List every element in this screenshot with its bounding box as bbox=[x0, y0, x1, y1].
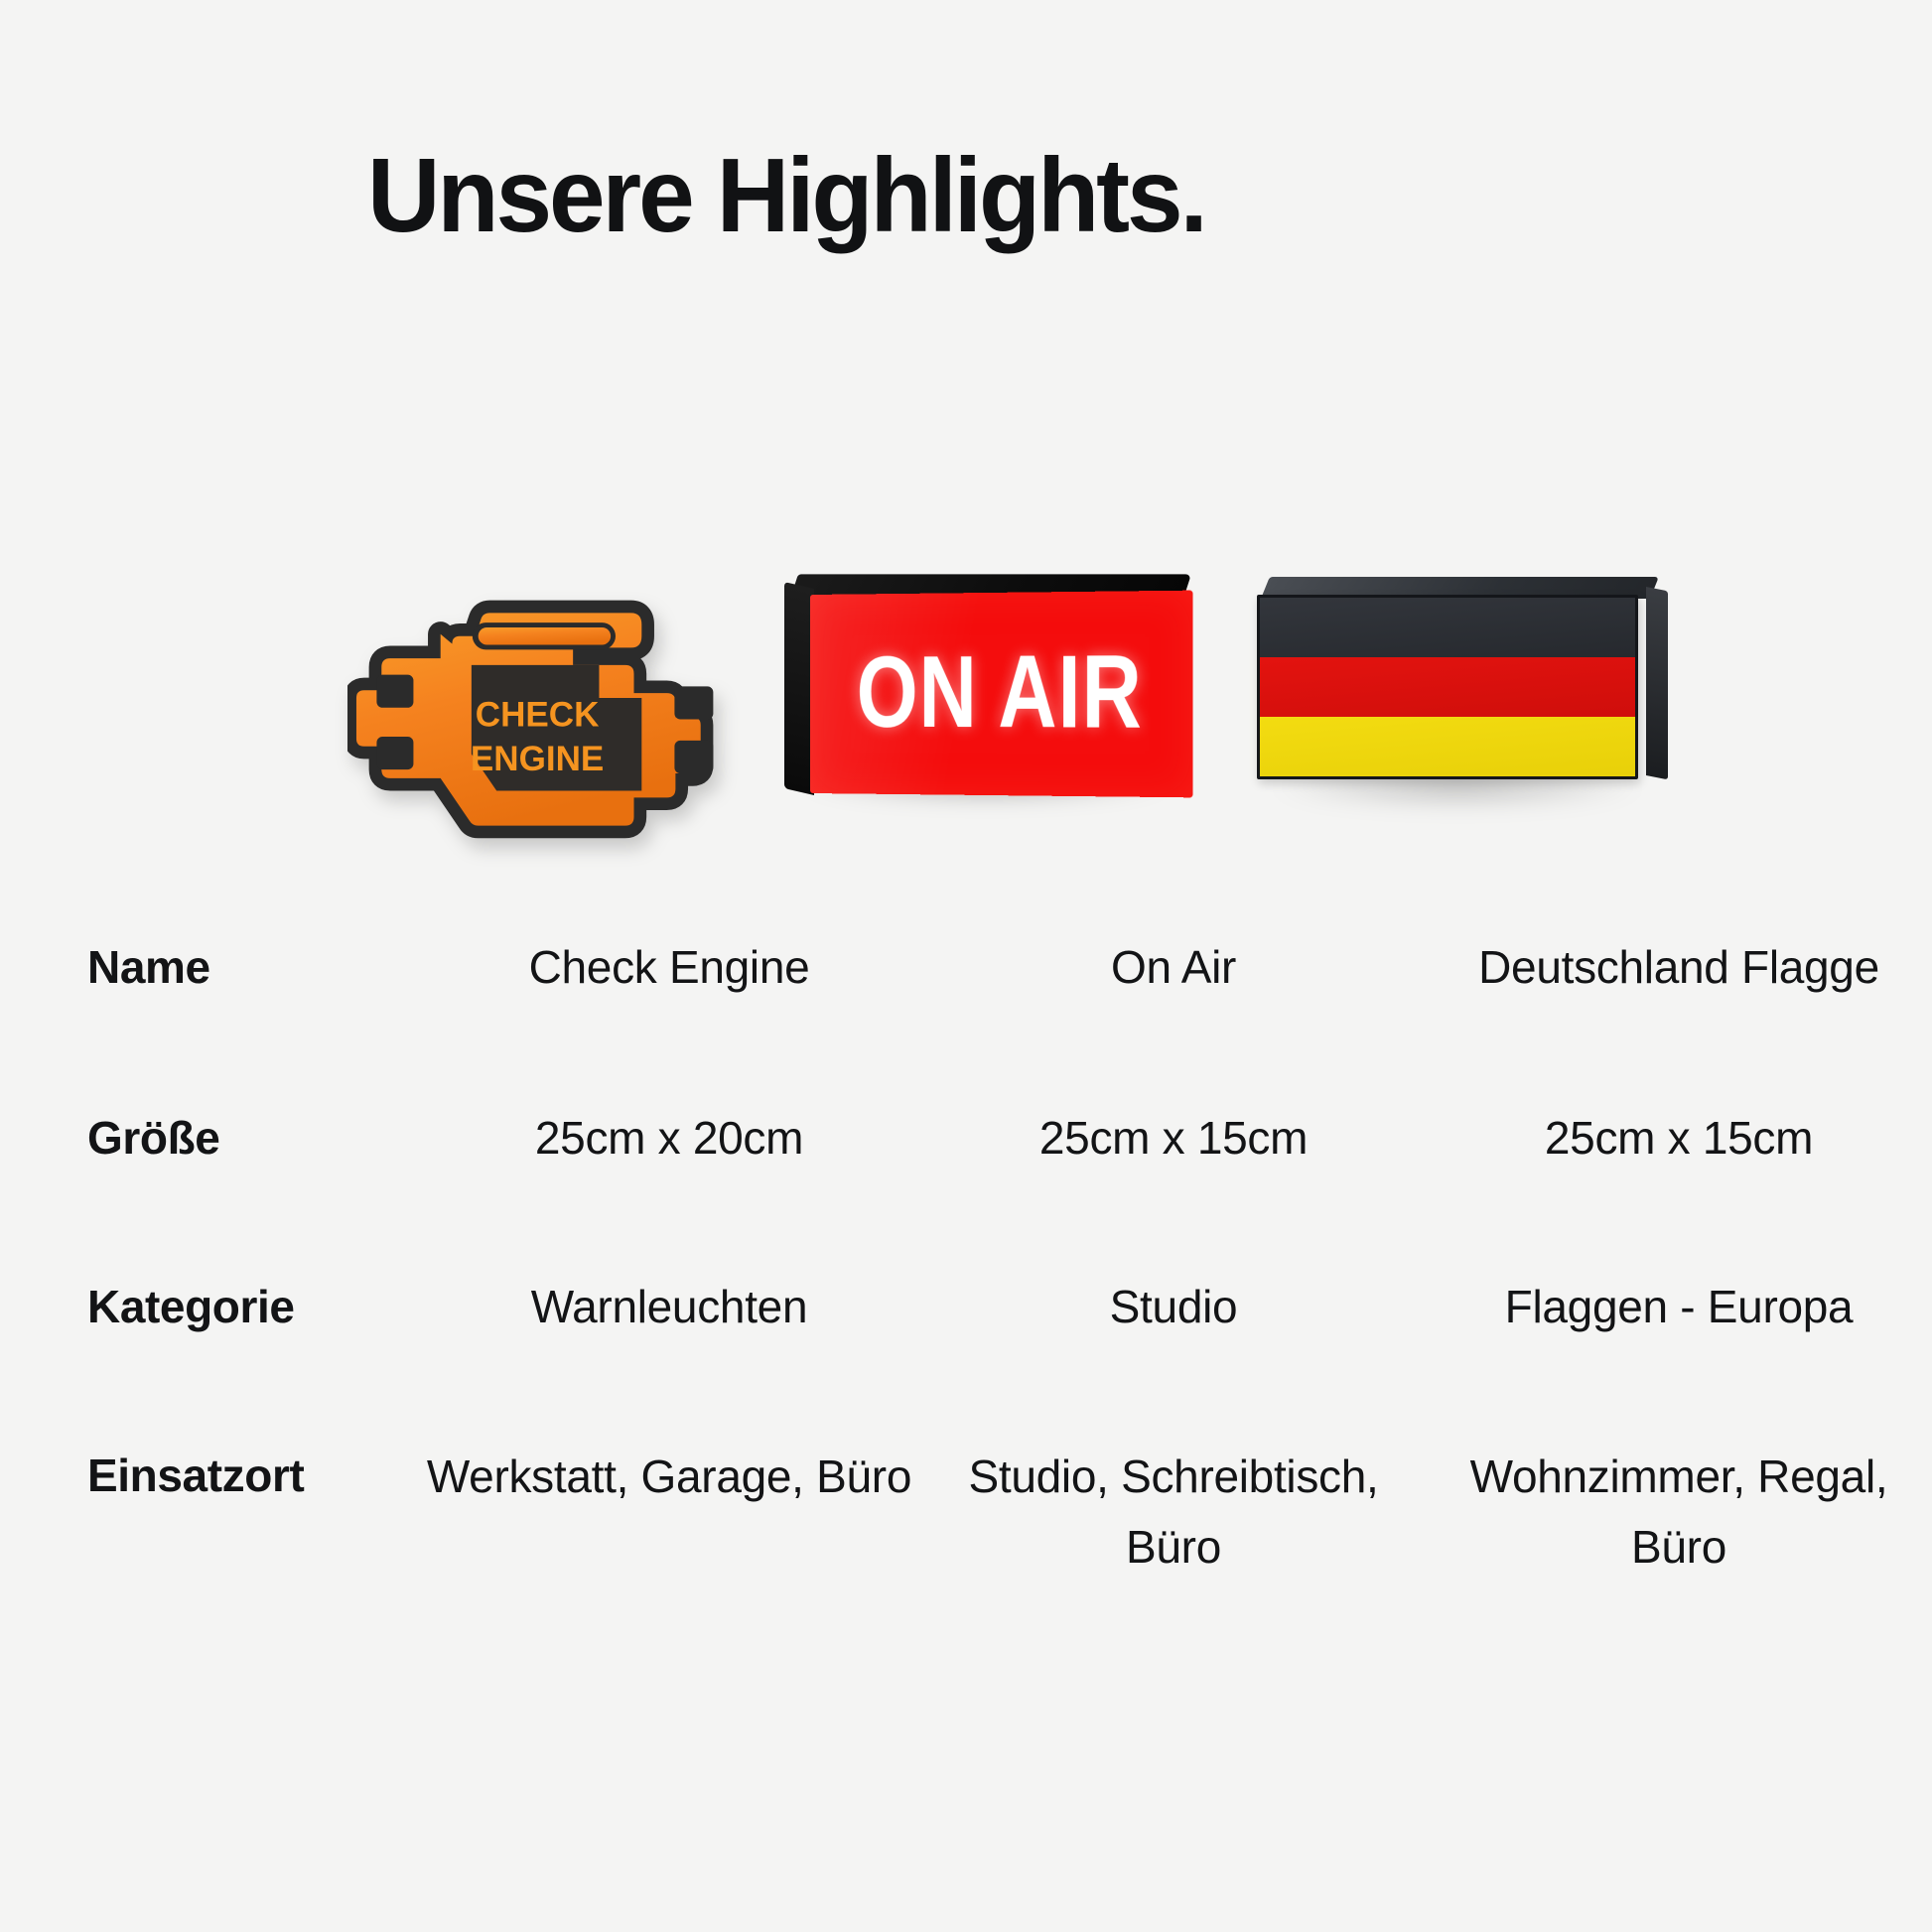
on-air-lightbox: ON AIR bbox=[784, 571, 1191, 829]
cell-einsatzort-deutschland-flagge: Wohnzimmer, Regal, Büro bbox=[1426, 1442, 1932, 1584]
spec-table: Name Check Engine On Air Deutschland Fla… bbox=[0, 933, 1932, 1640]
row-label-groesse: Größe bbox=[0, 1104, 417, 1173]
flag-band-black bbox=[1260, 598, 1635, 657]
cell-name-on-air: On Air bbox=[921, 933, 1426, 1003]
cell-name-check-engine: Check Engine bbox=[417, 933, 921, 1003]
product-image-row: CHECK ENGINE ON AIR bbox=[0, 551, 1932, 879]
check-engine-badge-line-1: CHECK bbox=[476, 695, 600, 734]
page-title: Unsere Highlights. bbox=[367, 139, 1205, 252]
product-image-deutschland-flagge[interactable] bbox=[1241, 551, 1698, 879]
on-air-sign-text: ON AIR bbox=[810, 647, 1193, 737]
cell-einsatzort-check-engine: Werkstatt, Garage, Büro bbox=[417, 1442, 921, 1512]
flag-band-red bbox=[1260, 657, 1635, 717]
cell-kategorie-on-air: Studio bbox=[921, 1273, 1426, 1342]
check-engine-badge-line-2: ENGINE bbox=[471, 740, 604, 778]
germany-flag-right-face bbox=[1646, 587, 1668, 779]
check-engine-icon: CHECK ENGINE bbox=[347, 551, 735, 849]
germany-flag-front-face bbox=[1257, 595, 1638, 779]
flag-band-gold bbox=[1260, 717, 1635, 776]
table-row: Name Check Engine On Air Deutschland Fla… bbox=[0, 933, 1932, 1104]
table-row: Kategorie Warnleuchten Studio Flaggen - … bbox=[0, 1273, 1932, 1442]
cell-groesse-on-air: 25cm x 15cm bbox=[921, 1104, 1426, 1173]
cell-kategorie-check-engine: Warnleuchten bbox=[417, 1273, 921, 1342]
table-row: Einsatzort Werkstatt, Garage, Büro Studi… bbox=[0, 1442, 1932, 1640]
row-label-name: Name bbox=[0, 933, 417, 1003]
product-image-on-air[interactable]: ON AIR bbox=[784, 551, 1201, 879]
cell-groesse-check-engine: 25cm x 20cm bbox=[417, 1104, 921, 1173]
row-label-kategorie: Kategorie bbox=[0, 1273, 417, 1342]
table-row: Größe 25cm x 20cm 25cm x 15cm 25cm x 15c… bbox=[0, 1104, 1932, 1273]
cell-einsatzort-on-air: Studio, Schreibtisch, Büro bbox=[921, 1442, 1426, 1584]
cell-groesse-deutschland-flagge: 25cm x 15cm bbox=[1426, 1104, 1932, 1173]
product-image-check-engine[interactable]: CHECK ENGINE bbox=[328, 551, 745, 879]
cell-kategorie-deutschland-flagge: Flaggen - Europa bbox=[1426, 1273, 1932, 1342]
row-label-einsatzort: Einsatzort bbox=[0, 1442, 417, 1511]
highlights-page: Unsere Highlights. bbox=[0, 0, 1932, 1932]
cell-name-deutschland-flagge: Deutschland Flagge bbox=[1426, 933, 1932, 1003]
germany-flag-lightbox bbox=[1251, 577, 1668, 825]
on-air-front-face: ON AIR bbox=[810, 591, 1193, 798]
